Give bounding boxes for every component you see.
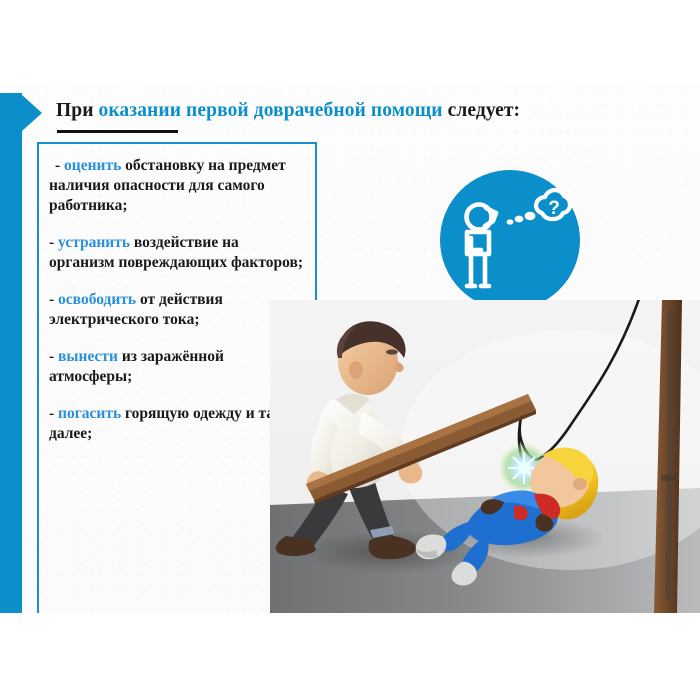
blue-vertical-bar (0, 93, 22, 613)
list-item-keyword: вынести (58, 348, 118, 365)
list-item-dash: - (49, 234, 58, 251)
list-item: - устранить воздействие на организм повр… (49, 233, 305, 273)
chevron-right-icon (22, 95, 42, 131)
slide-canvas: При оказании первой доврачебной помощи с… (0, 85, 700, 613)
rescue-electric-shock-illustration (270, 300, 700, 613)
list-item: - вынести из заражённой атмосферы; (49, 347, 305, 387)
thinking-person-icon: ? (440, 170, 580, 310)
list-item-dash: - (55, 157, 64, 174)
list-item: - оценить обстановку на предмет наличия … (49, 156, 305, 216)
list-item: - погасить горящую одежду и так далее; (49, 404, 305, 444)
thought-bubble-symbol: ? (548, 198, 560, 219)
title-before: При (56, 100, 99, 121)
page-title: При оказании первой доврачебной помощи с… (56, 100, 576, 122)
list-item-dash: - (49, 405, 58, 422)
thought-bubble: ? (536, 190, 570, 219)
list-item-keyword: устранить (58, 234, 130, 251)
list-item-keyword: оценить (64, 157, 121, 174)
title-after: следует: (443, 100, 521, 121)
list-item-keyword: освободить (58, 291, 136, 308)
list-item-dash: - (49, 348, 58, 365)
list-item-keyword: погасить (58, 405, 121, 422)
list-item-dash: - (49, 291, 58, 308)
list-item: - освободить от действия электрического … (49, 290, 305, 330)
title-highlight: оказании первой доврачебной помощи (99, 100, 443, 121)
title-underline (57, 130, 178, 133)
